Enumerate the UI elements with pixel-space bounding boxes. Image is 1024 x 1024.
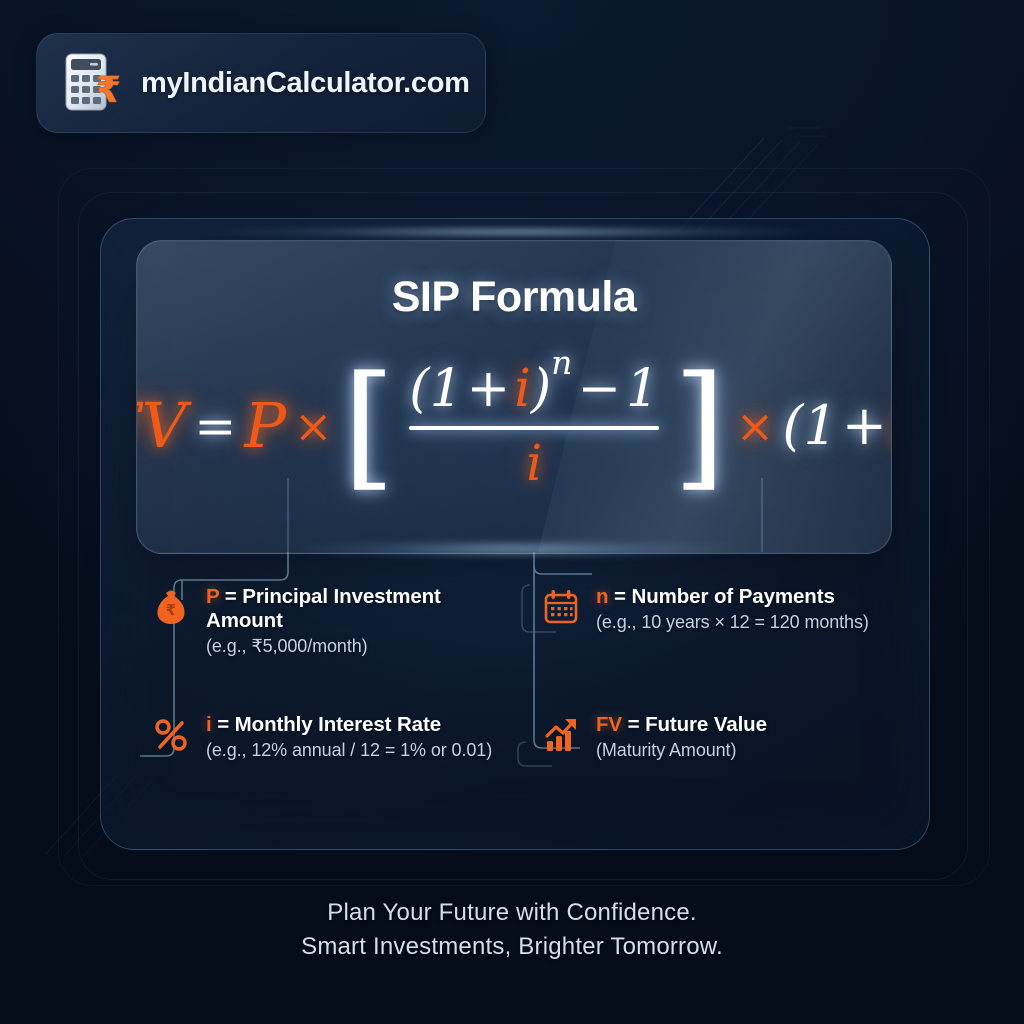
num-i: i — [514, 359, 531, 419]
calendar-icon — [540, 586, 582, 628]
legend-grid: ₹ P = Principal Investment Amount (e.g.,… — [150, 584, 896, 761]
legend-item-future-value: FV = Future Value (Maturity Amount) — [520, 712, 896, 761]
sip-formula: FV = P × [ ( 1 + i ) n − 1 i ] — [137, 359, 891, 492]
legend-definition: = Principal Investment Amount — [206, 585, 441, 632]
formula-numerator: ( 1 + i ) n − 1 — [409, 359, 659, 419]
money-bag-icon: ₹ — [150, 586, 192, 628]
tail-open-paren: ( — [782, 394, 803, 457]
legend-symbol: P — [206, 585, 219, 608]
tagline: Plan Your Future with Confidence. Smart … — [0, 896, 1024, 964]
formula-fv: FV — [136, 389, 186, 462]
legend-definition: = Number of Payments — [608, 585, 834, 608]
num-open-paren: ( — [409, 359, 429, 419]
legend-body: n = Number of Payments (e.g., 10 years ×… — [596, 584, 869, 633]
formula-equals: = — [186, 397, 244, 455]
num-close-paren: ) — [531, 359, 551, 419]
tagline-line-1: Plan Your Future with Confidence. — [0, 896, 1024, 930]
legend-definition: = Future Value — [622, 713, 767, 736]
tail-i: i — [891, 394, 892, 457]
legend-body: FV = Future Value (Maturity Amount) — [596, 712, 767, 761]
legend-example: (e.g., 12% annual / 12 = 1% or 0.01) — [206, 740, 492, 761]
legend-example: (e.g., ₹5,000/month) — [206, 636, 520, 657]
legend-symbol: n — [596, 585, 608, 608]
formula-glass-card: SIP Formula FV = P × [ ( 1 + i ) n − 1 i — [136, 240, 892, 554]
formula-denominator-i: i — [526, 434, 542, 492]
formula-bracket-close: ] — [673, 373, 726, 478]
formula-bracket-open: [ — [343, 373, 396, 478]
svg-text:₹: ₹ — [166, 601, 176, 619]
tail-one: 1 — [803, 394, 837, 457]
formula-fraction: ( 1 + i ) n − 1 i — [399, 359, 669, 492]
legend-item-principal: ₹ P = Principal Investment Amount (e.g.,… — [150, 584, 520, 712]
legend-title: i = Monthly Interest Rate — [206, 713, 441, 736]
legend-symbol: FV — [596, 713, 622, 736]
legend-example: (Maturity Amount) — [596, 740, 767, 761]
num-exponent-n: n — [551, 343, 572, 382]
poster-canvas: ₹ myIndianCalculator.com SIP Formula FV … — [0, 0, 1024, 1024]
legend-example: (e.g., 10 years × 12 = 120 months) — [596, 612, 869, 633]
num-minus: − — [572, 359, 626, 419]
legend-item-interest-rate: i = Monthly Interest Rate (e.g., 12% ann… — [150, 712, 520, 761]
svg-text:₹: ₹ — [96, 70, 121, 111]
num-plus: + — [463, 359, 515, 419]
tagline-line-2: Smart Investments, Brighter Tomorrow. — [0, 930, 1024, 964]
fraction-bar — [409, 426, 659, 430]
growth-chart-icon — [540, 714, 582, 756]
formula-times-1: × — [286, 399, 341, 453]
tail-plus: + — [838, 394, 891, 457]
card-top-edge-glow — [215, 226, 815, 238]
formula-times-2: × — [728, 399, 783, 453]
decorative-hatch-bottom-left — [40, 754, 190, 864]
legend-title: P = Principal Investment Amount — [206, 585, 441, 632]
num-one-b: 1 — [626, 359, 659, 419]
formula-principal: P — [244, 389, 286, 462]
calculator-rupee-icon: ₹ — [61, 50, 121, 116]
num-one: 1 — [430, 359, 463, 419]
legend-body: P = Principal Investment Amount (e.g., ₹… — [206, 584, 520, 657]
decorative-hatch-top-right — [669, 120, 849, 240]
legend-definition: = Monthly Interest Rate — [212, 713, 441, 736]
card-title: SIP Formula — [137, 273, 891, 322]
percent-icon — [150, 714, 192, 756]
legend-title: FV = Future Value — [596, 713, 767, 736]
brand-logo-badge[interactable]: ₹ myIndianCalculator.com — [36, 33, 486, 133]
brand-name: myIndianCalculator.com — [141, 67, 470, 100]
legend-body: i = Monthly Interest Rate (e.g., 12% ann… — [206, 712, 492, 761]
legend-title: n = Number of Payments — [596, 585, 835, 608]
legend-item-payments: n = Number of Payments (e.g., 10 years ×… — [520, 584, 896, 712]
